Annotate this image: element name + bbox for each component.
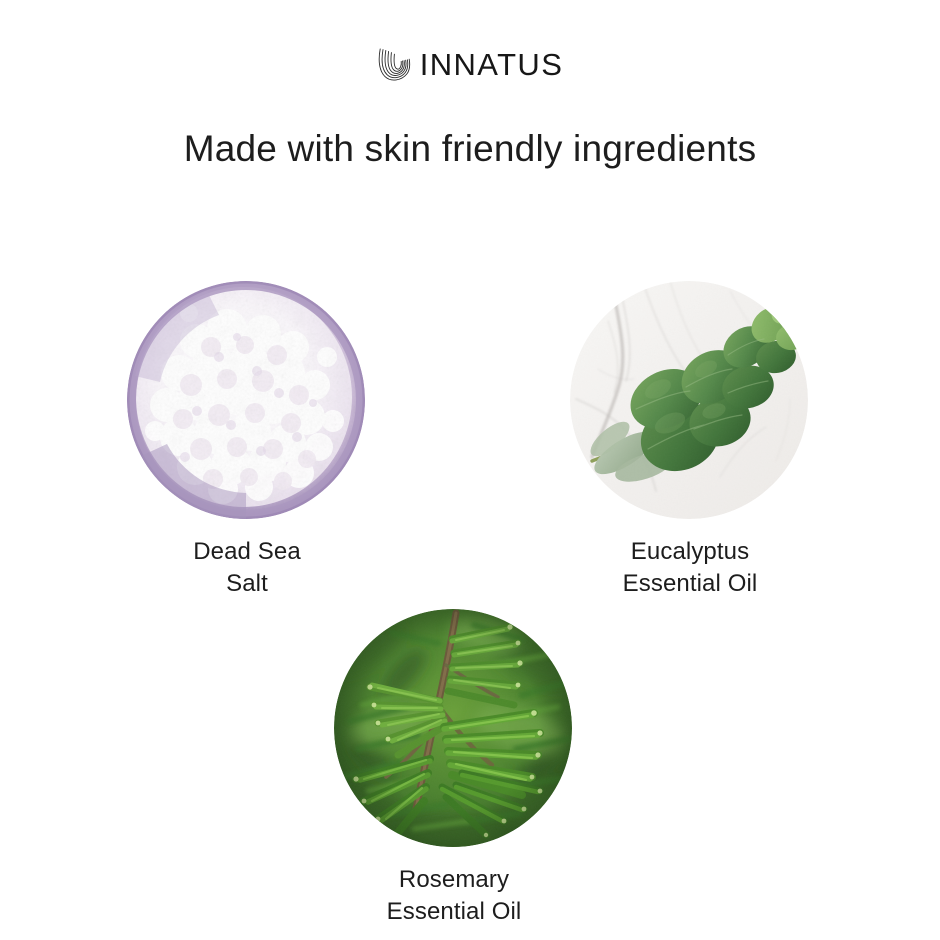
caption-line-1: Rosemary xyxy=(334,864,574,896)
page-title: Made with skin friendly ingredients xyxy=(0,128,940,171)
caption-line-1: Dead Sea xyxy=(127,536,367,568)
ingredient-caption: Rosemary Essential Oil xyxy=(334,864,574,927)
caption-line-2: Essential Oil xyxy=(570,568,810,600)
caption-line-2: Salt xyxy=(127,568,367,600)
ingredient-caption: Dead Sea Salt xyxy=(127,536,367,599)
rosemary-sprig-photo xyxy=(334,609,572,847)
ingredient-card-dead-sea-salt: Dead Sea Salt xyxy=(127,281,367,599)
ingredient-caption: Eucalyptus Essential Oil xyxy=(570,536,810,599)
caption-line-2: Essential Oil xyxy=(334,896,574,928)
brand-header: INNATUS xyxy=(0,46,940,82)
ingredient-card-eucalyptus: Eucalyptus Essential Oil xyxy=(570,281,810,599)
caption-line-1: Eucalyptus xyxy=(570,536,810,568)
shell-wave-logo-icon xyxy=(377,46,411,82)
brand-name: INNATUS xyxy=(420,49,564,80)
dead-sea-salt-photo xyxy=(127,281,365,519)
ingredients-infographic: INNATUS Made with skin friendly ingredie… xyxy=(0,0,940,940)
ingredient-card-rosemary: Rosemary Essential Oil xyxy=(334,609,574,927)
eucalyptus-sprig-photo xyxy=(570,281,808,519)
